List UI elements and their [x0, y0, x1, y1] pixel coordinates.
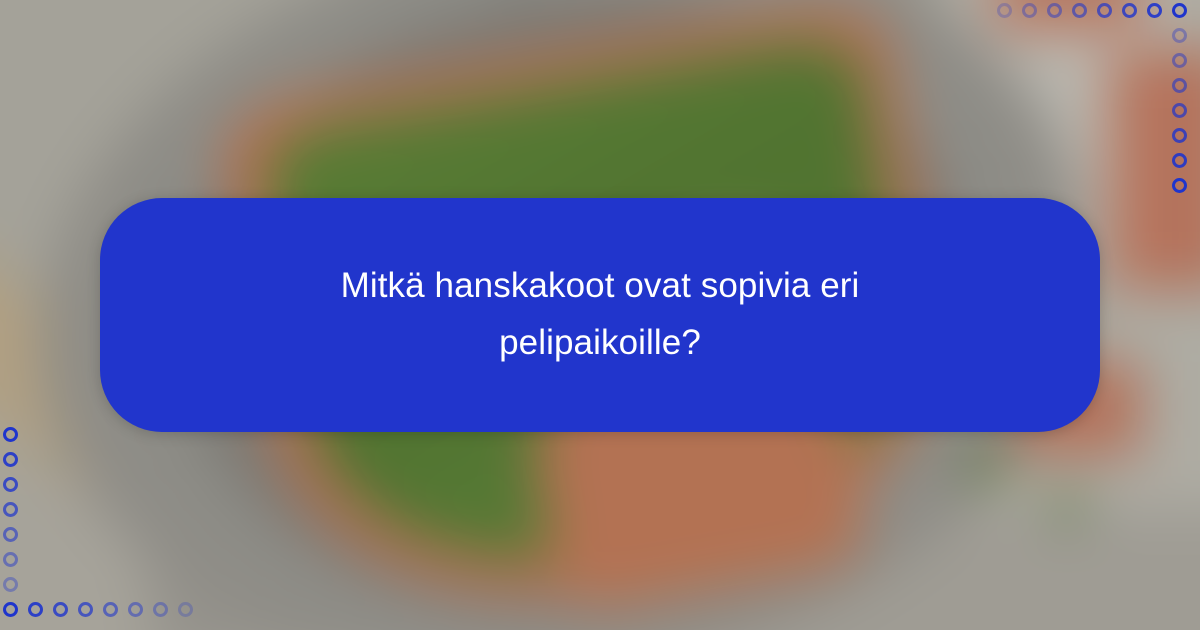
question-text: Mitkä hanskakoot ovat sopivia eri pelipa…	[260, 258, 940, 371]
screenshot-canvas: Mitkä hanskakoot ovat sopivia eri pelipa…	[0, 0, 1200, 630]
question-card: Mitkä hanskakoot ovat sopivia eri pelipa…	[100, 198, 1100, 432]
